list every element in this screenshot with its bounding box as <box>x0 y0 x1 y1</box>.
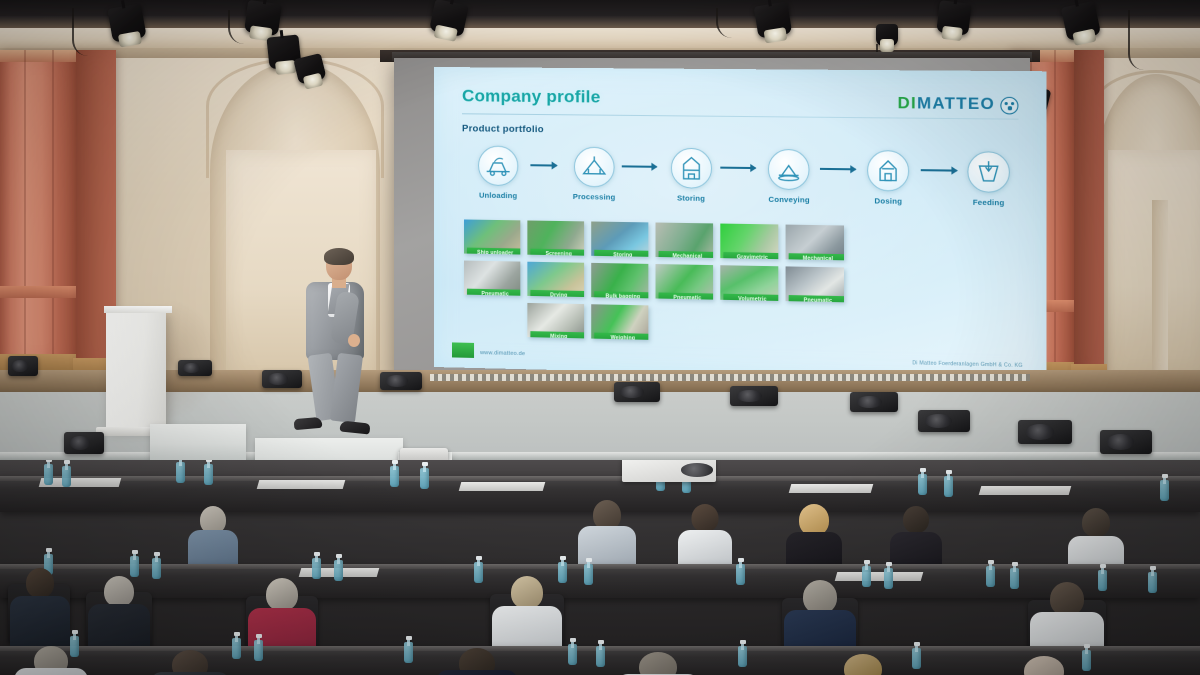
process-step-unloading: Unloading <box>468 145 528 200</box>
stage-monitor <box>262 370 302 388</box>
silo-icon <box>670 148 711 189</box>
attendee <box>150 650 230 675</box>
presenter-hair <box>324 248 354 265</box>
water-bottle <box>596 640 605 667</box>
attendee <box>616 652 700 675</box>
stage-monitor <box>850 392 898 412</box>
thumbnail-caption: Pneumatic <box>467 289 520 296</box>
water-bottle <box>334 554 343 581</box>
logo-text-matteo: MATTEO <box>917 95 995 113</box>
attendee-head <box>26 568 54 598</box>
water-bottle <box>986 560 995 587</box>
dimatteo-circle-mark-icon <box>1000 96 1018 114</box>
attendee <box>1000 656 1088 675</box>
water-bottle <box>1010 562 1019 589</box>
stage-monitor <box>8 356 38 376</box>
pilaster-shaft-line <box>24 50 26 370</box>
handout-paper <box>789 484 874 493</box>
pilaster-band <box>0 286 78 298</box>
process-step-conveying: Conveying <box>758 149 820 205</box>
slide-subtitle: Product portfolio <box>462 123 544 135</box>
thumbnail-caption: Screening <box>530 249 584 256</box>
stage-spotlight-icon <box>876 24 898 46</box>
flow-arrow <box>921 169 957 172</box>
stage-monitor <box>730 386 778 406</box>
thumbnail-caption: Weighing <box>594 333 648 340</box>
thumbnail-row: Mixing Weighing <box>464 302 1025 349</box>
stage-spotlight-icon <box>293 53 326 85</box>
thumbnail-caption: Bulk bagging <box>594 291 648 298</box>
thumbnail-caption: Pneumatic <box>789 295 844 302</box>
truck-unloading-icon <box>478 146 518 187</box>
pilaster-right-return <box>1074 50 1104 380</box>
presenter-leg <box>330 353 363 424</box>
stage-step-riser <box>150 424 246 460</box>
attendee <box>436 648 518 675</box>
product-thumbnail: Pneumatic <box>786 266 844 302</box>
process-step-storing: Storing <box>660 148 722 204</box>
process-step-label: Storing <box>660 193 722 203</box>
water-bottle <box>862 560 871 587</box>
wall-pilaster-slim-right <box>1152 200 1168 376</box>
water-bottle <box>918 468 927 495</box>
pilaster-far-left <box>0 50 76 370</box>
pilaster-capital <box>0 50 80 62</box>
product-thumbnail: Mechanical <box>656 223 714 258</box>
logo-text-di: DI <box>898 95 917 113</box>
flow-arrow <box>720 167 755 169</box>
thumbnail-caption: Mechanical <box>659 251 713 258</box>
presenter-shoe <box>340 420 371 434</box>
handout-paper <box>979 486 1072 495</box>
water-bottle <box>738 640 747 667</box>
thumbnail-row: Pneumatic Drying Bulk bagging Pneumatic <box>464 261 1025 306</box>
water-bottle <box>568 638 577 665</box>
water-bottle <box>912 642 921 669</box>
process-step-label: Processing <box>564 192 625 202</box>
attendee-head <box>511 576 543 609</box>
slide-footer-url: www.dimatteo.de <box>480 350 525 357</box>
projected-slide: Company profile Product portfolio DIMATT… <box>434 67 1046 382</box>
thumbnail-caption: Pneumatic <box>659 292 713 299</box>
flow-arrow <box>530 164 556 166</box>
attendee-head <box>639 652 677 675</box>
water-bottle <box>404 636 413 663</box>
attendee-head <box>903 506 929 533</box>
attendee-head <box>1024 656 1064 675</box>
presenter-trousers <box>312 354 362 420</box>
product-thumbnail: Ship unloader <box>464 219 520 254</box>
water-bottle <box>130 550 139 577</box>
handout-paper <box>257 480 346 489</box>
presenter <box>300 250 386 446</box>
feeding-chute-icon <box>967 151 1010 193</box>
product-thumbnail: Pneumatic <box>464 261 520 296</box>
water-bottle <box>204 460 213 485</box>
stage-spotlight-icon <box>936 0 972 36</box>
rig-cable <box>1128 10 1164 70</box>
attendee-head <box>803 580 837 614</box>
projection-screen: Company profile Product portfolio DIMATT… <box>394 58 1030 376</box>
water-bottle <box>1160 474 1169 501</box>
crusher-icon <box>574 147 615 188</box>
product-thumbnail: Screening <box>527 220 584 255</box>
rig-cable <box>716 8 762 38</box>
attendee-head <box>692 504 719 532</box>
dimatteo-logo: DIMATTEO <box>898 95 1019 115</box>
water-bottle <box>474 556 483 583</box>
stage-monitor <box>614 382 660 402</box>
water-bottle <box>390 460 399 487</box>
presenter-hand <box>348 334 360 347</box>
stage-monitor <box>380 372 422 390</box>
product-thumbnail: Gravimetric <box>720 224 778 260</box>
thumbnail-caption: Mixing <box>530 331 584 338</box>
process-step-processing: Processing <box>564 146 625 201</box>
water-bottle <box>312 552 321 579</box>
audience-area <box>0 460 1200 675</box>
attendee-torso <box>436 670 518 675</box>
stage-monitor <box>178 360 212 376</box>
presentation-photo-scene: Company profile Product portfolio DIMATT… <box>0 0 1200 675</box>
product-thumbnail: Storing <box>591 221 648 256</box>
stage-spotlight-icon <box>1061 1 1101 41</box>
attendee-head <box>266 578 298 611</box>
pilaster-shaft-line <box>1054 50 1056 378</box>
process-step-label: Feeding <box>957 197 1021 207</box>
process-step-feeding: Feeding <box>957 151 1021 208</box>
lighting-truss-rail <box>0 0 1200 16</box>
delegate-table <box>0 564 1200 598</box>
water-bottle <box>584 558 593 585</box>
cornice-moulding <box>0 28 1200 50</box>
water-bottle <box>1148 566 1157 593</box>
attendee <box>188 506 238 572</box>
water-bottle <box>736 558 745 585</box>
stage-monitor <box>1100 430 1152 454</box>
water-bottle <box>254 634 263 661</box>
process-step-dosing: Dosing <box>857 150 920 206</box>
water-bottle <box>944 470 953 497</box>
attendee <box>820 654 906 675</box>
presenter-shoe <box>294 417 323 430</box>
dosing-hopper-icon <box>867 150 909 192</box>
attendee-head <box>1050 582 1084 616</box>
thumbnail-caption: Storing <box>594 250 648 257</box>
attendee-head <box>844 654 882 675</box>
process-step-label: Unloading <box>468 190 528 200</box>
ceiling-projector <box>622 460 716 482</box>
pilaster-shaft-line <box>52 50 54 370</box>
stage-monitor <box>918 410 970 432</box>
product-thumbnail: Weighing <box>591 304 648 340</box>
flow-arrow <box>622 165 657 167</box>
lectern-top <box>104 306 172 313</box>
water-bottle <box>420 462 429 489</box>
footlight-strip <box>430 374 1030 381</box>
product-thumbnail-grid: Ship unloader Screening Storing Mechanic… <box>464 219 1025 355</box>
handout-paper <box>459 482 546 491</box>
stage-monitor <box>64 432 104 454</box>
process-step-label: Dosing <box>857 196 920 206</box>
product-thumbnail: Bulk bagging <box>591 263 648 298</box>
water-bottle <box>884 562 893 589</box>
process-step-label: Conveying <box>758 195 820 205</box>
product-thumbnail: Mechanical <box>786 225 844 261</box>
thumbnail-caption: Mechanical <box>789 253 844 260</box>
water-bottle <box>176 460 185 483</box>
conveyor-icon <box>768 149 810 190</box>
thumbnail-caption: Volumetric <box>723 294 778 301</box>
water-bottle <box>152 552 161 579</box>
attendee-torso <box>10 596 70 648</box>
product-thumbnail: Drying <box>527 262 584 297</box>
thumbnail-caption: Gravimetric <box>723 252 778 259</box>
thumbnail-caption: Drying <box>530 290 584 297</box>
product-thumbnail: Volumetric <box>720 265 778 301</box>
thumbnail-caption: Ship unloader <box>467 248 520 255</box>
product-thumbnail: Pneumatic <box>656 264 714 300</box>
stage-monitor <box>1018 420 1072 444</box>
slide-title: Company profile <box>462 86 600 107</box>
flow-arrow <box>820 168 856 170</box>
attendee <box>10 568 70 648</box>
product-thumbnail: Mixing <box>527 303 584 338</box>
slide-footer-logo <box>452 342 474 358</box>
thumbnail-row: Ship unloader Screening Storing Mechanic… <box>464 219 1025 263</box>
rig-cable <box>228 10 256 44</box>
attendee-head <box>1082 508 1110 537</box>
attendee <box>14 646 88 675</box>
rig-cable <box>72 8 114 56</box>
attendee-torso <box>14 668 88 675</box>
stage-spotlight-icon <box>429 0 469 37</box>
water-bottle <box>232 632 241 659</box>
process-flow-chain: Unloading Processing Storing <box>468 145 1021 222</box>
slide-footer-note: Di Matteo Foerderanlagen GmbH & Co. KG <box>912 360 1022 369</box>
water-bottle <box>44 460 53 485</box>
attendee-head <box>104 576 134 607</box>
lectern <box>106 310 166 428</box>
slide-divider <box>462 113 1018 119</box>
water-bottle <box>62 460 71 487</box>
